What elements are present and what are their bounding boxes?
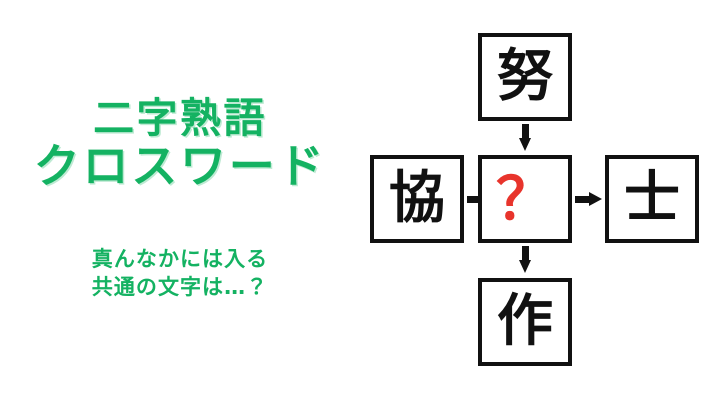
- page-title-line-1: 二字熟語: [0, 96, 360, 140]
- kanji-char-right: 士: [624, 171, 680, 227]
- arrow-down-top-to-center: [519, 124, 532, 152]
- arrow-shaft: [522, 246, 529, 261]
- arrow-shaft: [575, 196, 590, 203]
- crossword-diagram: 努 協 ？ 士 作: [360, 0, 720, 405]
- unknown-answer-question-mark: ？: [496, 170, 554, 228]
- title-block: 二字熟語 クロスワード: [0, 96, 360, 192]
- arrow-shaft: [522, 124, 529, 139]
- kanji-cell-center-answer: ？: [478, 155, 572, 243]
- arrow-head: [589, 192, 602, 206]
- kanji-char-top: 努: [497, 49, 553, 105]
- page-title-line-2: クロスワード: [0, 142, 360, 192]
- arrow-down-center-to-bottom: [519, 246, 532, 274]
- arrow-head: [519, 138, 531, 151]
- kanji-cell-left: 協: [370, 155, 464, 243]
- subtitle-line-2: 共通の文字は…？: [0, 274, 360, 302]
- arrow-right-center-to-right: [575, 192, 602, 206]
- arrow-head: [519, 260, 531, 273]
- kanji-char-bottom: 作: [497, 294, 553, 350]
- subtitle-block: 真んなかには入る 共通の文字は…？: [0, 246, 360, 301]
- kanji-char-left: 協: [389, 171, 445, 227]
- kanji-cell-bottom: 作: [478, 278, 572, 366]
- kanji-cell-top: 努: [478, 33, 572, 121]
- subtitle-line-1: 真んなかには入る: [0, 246, 360, 274]
- puzzle-slide: 二字熟語 クロスワード 真んなかには入る 共通の文字は…？ 努 協 ？: [0, 0, 720, 405]
- kanji-cell-right: 士: [605, 155, 699, 243]
